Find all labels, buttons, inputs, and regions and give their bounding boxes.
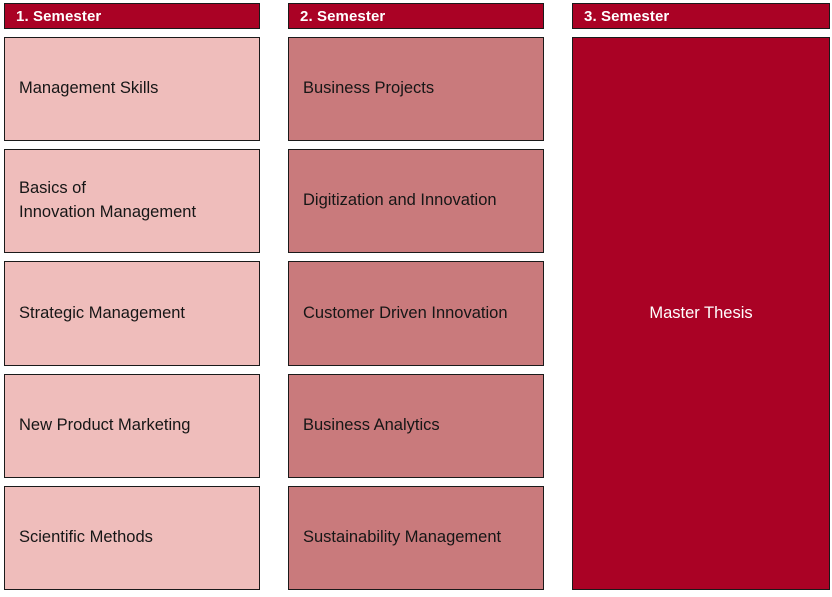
course-box[interactable]: Sustainability Management [288, 486, 544, 590]
course-box[interactable]: New Product Marketing [4, 374, 260, 478]
course-list-3: Master Thesis [572, 37, 830, 590]
semester-column-3: 3. Semester Master Thesis [572, 3, 830, 590]
semester-column-1: 1. Semester Management Skills Basics of … [4, 3, 260, 590]
course-list-1: Management Skills Basics of Innovation M… [4, 37, 260, 590]
course-box[interactable]: Strategic Management [4, 261, 260, 365]
course-box[interactable]: Customer Driven Innovation [288, 261, 544, 365]
course-box[interactable]: Basics of Innovation Management [4, 149, 260, 253]
course-box[interactable]: Digitization and Innovation [288, 149, 544, 253]
course-box[interactable]: Management Skills [4, 37, 260, 141]
course-list-2: Business Projects Digitization and Innov… [288, 37, 544, 590]
semester-column-2: 2. Semester Business Projects Digitizati… [288, 3, 544, 590]
semester-header-3: 3. Semester [572, 3, 830, 29]
curriculum-diagram: 1. Semester Management Skills Basics of … [0, 0, 832, 597]
course-box[interactable]: Business Projects [288, 37, 544, 141]
course-box[interactable]: Business Analytics [288, 374, 544, 478]
semester-header-2: 2. Semester [288, 3, 544, 29]
course-box[interactable]: Scientific Methods [4, 486, 260, 590]
semester-header-1: 1. Semester [4, 3, 260, 29]
master-thesis-box[interactable]: Master Thesis [572, 37, 830, 590]
